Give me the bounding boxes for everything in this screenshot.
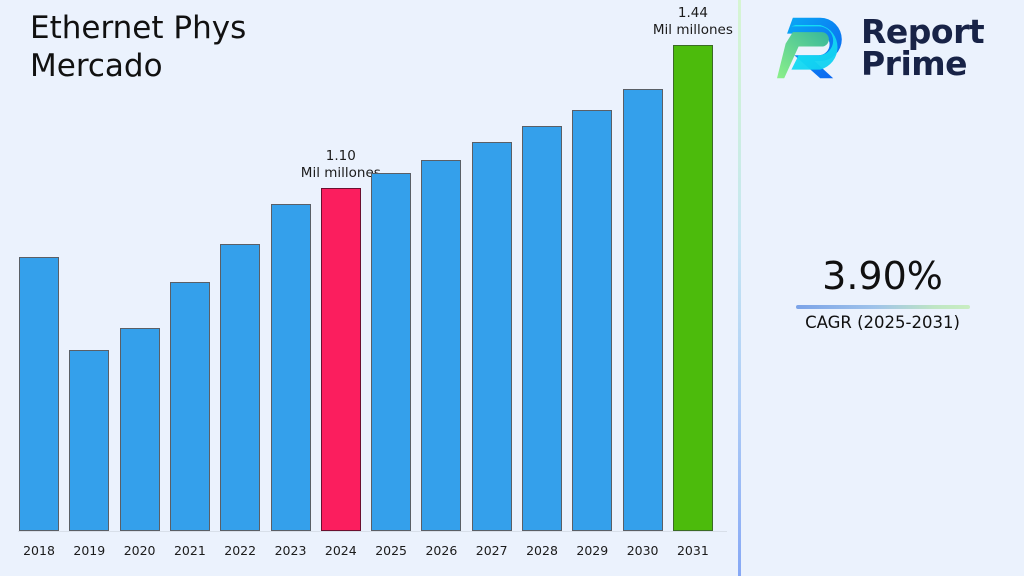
bar-2030[interactable] xyxy=(623,89,663,531)
x-tick-2021: 2021 xyxy=(174,543,206,558)
bar-2031[interactable] xyxy=(673,45,713,531)
bar-value-unit: Mil millones xyxy=(301,165,381,182)
cagr-block: 3.90% CAGR (2025-2031) xyxy=(741,255,1024,332)
x-tick-2026: 2026 xyxy=(425,543,457,558)
x-tick-2027: 2027 xyxy=(476,543,508,558)
bar-2019[interactable] xyxy=(69,350,109,531)
x-tick-2028: 2028 xyxy=(526,543,558,558)
x-tick-2019: 2019 xyxy=(73,543,105,558)
bar-2021[interactable] xyxy=(170,282,210,531)
report-prime-r-logo-icon xyxy=(777,12,849,84)
bar-2027[interactable] xyxy=(472,142,512,531)
bar-value-unit: Mil millones xyxy=(653,22,733,39)
bar-chart: 2018201920202021202220231.10Mil millones… xyxy=(0,0,738,576)
bar-2026[interactable] xyxy=(421,160,461,531)
bar-value-number: 1.44 xyxy=(653,5,733,22)
cagr-value: 3.90% xyxy=(741,255,1024,299)
x-tick-2023: 2023 xyxy=(275,543,307,558)
cagr-divider-rule xyxy=(796,305,970,309)
bar-2022[interactable] xyxy=(220,244,260,531)
bar-value-number: 1.10 xyxy=(301,148,381,165)
infographic-root: Ethernet Phys Mercado 201820192020202120… xyxy=(0,0,1024,576)
x-tick-2024: 2024 xyxy=(325,543,357,558)
brand-name: Report Prime xyxy=(861,16,984,79)
brand-logo: Report Prime xyxy=(777,12,984,84)
x-tick-2020: 2020 xyxy=(124,543,156,558)
x-axis-line xyxy=(18,531,727,532)
x-tick-2025: 2025 xyxy=(375,543,407,558)
x-tick-2030: 2030 xyxy=(627,543,659,558)
x-tick-2029: 2029 xyxy=(576,543,608,558)
x-tick-2018: 2018 xyxy=(23,543,55,558)
cagr-caption: CAGR (2025-2031) xyxy=(741,313,1024,332)
bar-2023[interactable] xyxy=(271,204,311,531)
bar-2018[interactable] xyxy=(19,257,59,531)
bar-2029[interactable] xyxy=(572,110,612,531)
x-tick-2022: 2022 xyxy=(224,543,256,558)
bar-value-label-2024: 1.10Mil millones xyxy=(301,148,381,182)
bar-2024[interactable] xyxy=(321,188,361,531)
right-panel: Report Prime 3.90% CAGR (2025-2031) xyxy=(741,0,1024,576)
bar-2025[interactable] xyxy=(371,173,411,531)
x-tick-2031: 2031 xyxy=(677,543,709,558)
bar-2020[interactable] xyxy=(120,328,160,531)
bar-2028[interactable] xyxy=(522,126,562,531)
bar-value-label-2031: 1.44Mil millones xyxy=(653,5,733,39)
